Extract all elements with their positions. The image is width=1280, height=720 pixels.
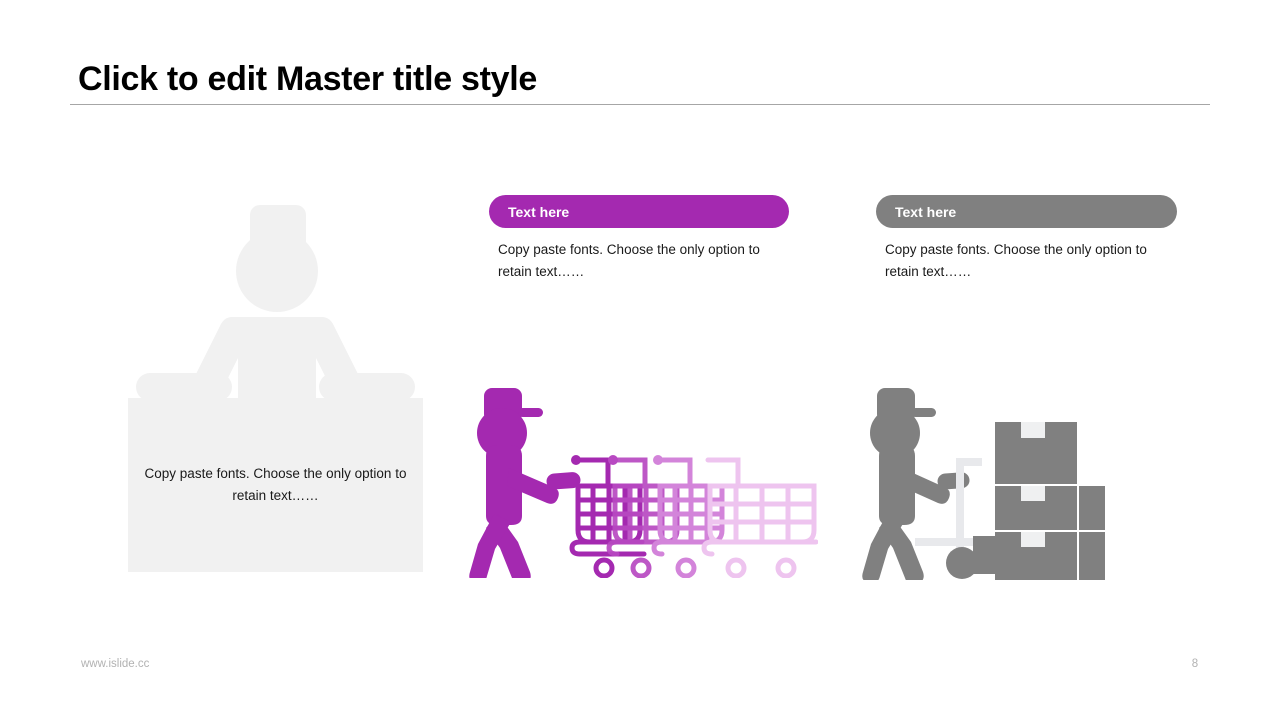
footer-url[interactable]: www.islide.cc [81, 658, 149, 670]
slide-canvas: Click to edit Master title style Copy pa… [0, 0, 1280, 720]
worker-pushing-hand-truck-with-boxes-icon [855, 386, 1105, 580]
pill-label-purple[interactable]: Text here [489, 195, 789, 228]
title-divider [70, 104, 1210, 105]
pill-label-gray[interactable]: Text here [876, 195, 1177, 228]
shopper-pushing-shopping-carts-icon [468, 386, 818, 578]
left-text-panel: Copy paste fonts. Choose the only option… [128, 398, 423, 572]
page-number: 8 [1185, 658, 1205, 670]
column-2-body-text: Copy paste fonts. Choose the only option… [885, 239, 1170, 282]
person-with-cap-silhouette-icon [128, 205, 423, 405]
pill-label-gray-text: Text here [895, 204, 956, 220]
pill-label-purple-text: Text here [508, 204, 569, 220]
left-panel-body-text: Copy paste fonts. Choose the only option… [141, 463, 411, 508]
page-title: Click to edit Master title style [78, 60, 537, 99]
column-1-body-text: Copy paste fonts. Choose the only option… [498, 239, 783, 282]
